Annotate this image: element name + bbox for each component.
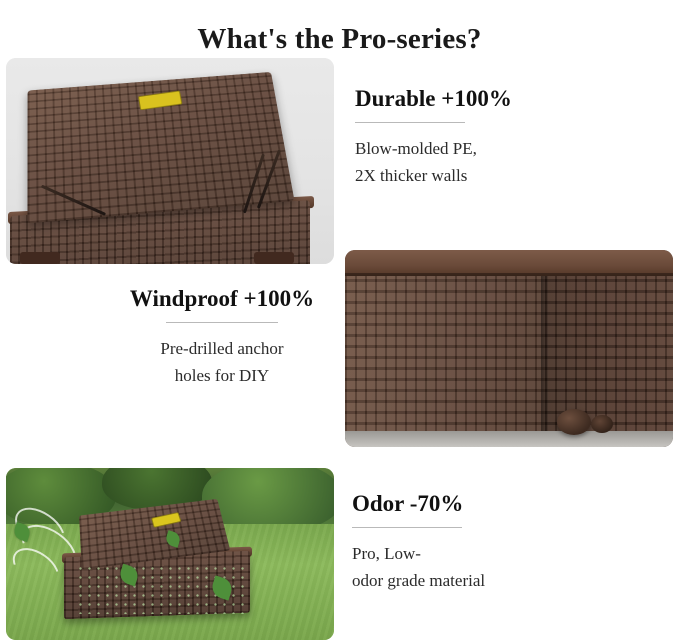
box-corner-closeup-image xyxy=(345,250,673,447)
box-foot xyxy=(20,252,60,264)
box-lid xyxy=(27,72,294,223)
ground-surface xyxy=(345,431,673,447)
warning-label-sticker xyxy=(151,512,181,528)
feature-odor-title: Odor -70% xyxy=(352,490,652,518)
feature-divider xyxy=(166,322,278,323)
feature-divider xyxy=(355,122,465,123)
feature-odor-description: Pro, Low- odor grade material xyxy=(352,540,652,594)
box-wall-left xyxy=(345,250,545,447)
feature-durable-description: Blow-molded PE, 2X thicker walls xyxy=(355,135,655,189)
feature-windproof: Windproof +100% Pre-drilled anchor holes… xyxy=(112,285,332,389)
warning-label-sticker xyxy=(138,91,182,111)
feature-windproof-title: Windproof +100% xyxy=(112,285,332,313)
box-corner-seam xyxy=(541,250,548,447)
feature-divider xyxy=(352,527,462,528)
box-foot xyxy=(254,252,294,264)
feature-durable: Durable +100% Blow-molded PE, 2X thicker… xyxy=(355,85,655,189)
anchor-hole xyxy=(591,415,613,433)
box-top-edge xyxy=(345,250,673,276)
feature-windproof-description: Pre-drilled anchor holes for DIY xyxy=(112,335,332,389)
open-deck-box-image xyxy=(6,58,334,264)
page-title: What's the Pro-series? xyxy=(0,19,679,57)
feature-durable-title: Durable +100% xyxy=(355,85,655,113)
feature-odor: Odor -70% Pro, Low- odor grade material xyxy=(352,490,652,594)
deck-box-on-lawn-image xyxy=(6,468,334,640)
product-feature-infographic: What's the Pro-series? Durable +100% Blo… xyxy=(0,0,679,644)
anchor-hole xyxy=(557,409,591,435)
